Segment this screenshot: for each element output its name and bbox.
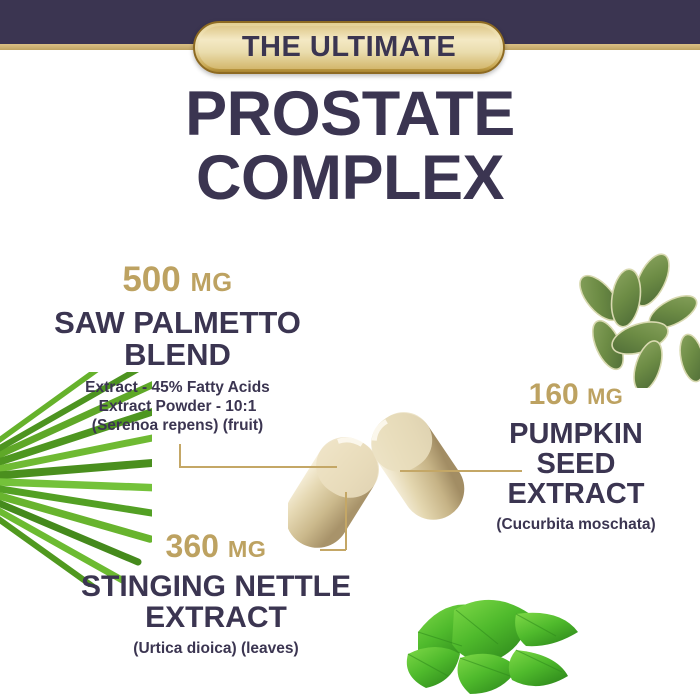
- ultimate-badge: THE ULTIMATE: [193, 21, 505, 74]
- pumpkin-seed-dose-value: 160: [529, 378, 579, 411]
- saw-palmetto-detail-2: Extract Powder - 10:1: [10, 398, 345, 417]
- pumpkin-seed-name: PUMPKIN SEED EXTRACT: [452, 419, 700, 509]
- pumpkin-seed-detail-1: (Cucurbita moschata): [452, 516, 700, 535]
- title-line-2: COMPLEX: [0, 146, 700, 210]
- ingredient-stinging-nettle: 360 MG STINGING NETTLE EXTRACT (Urtica d…: [30, 530, 402, 659]
- stinging-nettle-dose-value: 360: [166, 528, 219, 564]
- title-line-1: PROSTATE: [185, 79, 515, 149]
- ingredient-pumpkin-seed: 160 MG PUMPKIN SEED EXTRACT (Cucurbita m…: [452, 380, 700, 535]
- pumpkin-seed-details: (Cucurbita moschata): [452, 516, 700, 535]
- saw-palmetto-name-line-1: SAW PALMETTO: [10, 307, 345, 339]
- saw-palmetto-details: Extract - 45% Fatty Acids Extract Powder…: [10, 379, 345, 436]
- stinging-nettle-dose: 360 MG: [30, 530, 402, 562]
- connector-saw-horizontal: [179, 466, 337, 468]
- saw-palmetto-name: SAW PALMETTO BLEND: [10, 307, 345, 371]
- nettle-leaves-icon: [398, 592, 658, 700]
- ultimate-badge-label: THE ULTIMATE: [242, 33, 456, 62]
- pumpkin-seed-name-line-3: EXTRACT: [452, 479, 700, 509]
- stinging-nettle-name-line-2: EXTRACT: [30, 602, 402, 633]
- stinging-nettle-name: STINGING NETTLE EXTRACT: [30, 571, 402, 633]
- saw-palmetto-dose-unit: MG: [190, 269, 232, 297]
- saw-palmetto-detail-1: Extract - 45% Fatty Acids: [10, 379, 345, 398]
- page-title: PROSTATE COMPLEX: [0, 82, 700, 211]
- saw-palmetto-dose-value: 500: [122, 260, 180, 299]
- stinging-nettle-dose-unit: MG: [228, 536, 267, 562]
- ultimate-badge-inner: THE ULTIMATE: [198, 26, 500, 69]
- connector-saw-vertical: [179, 444, 181, 468]
- saw-palmetto-name-line-2: BLEND: [10, 339, 345, 371]
- pumpkin-seeds-icon: [556, 246, 700, 388]
- pumpkin-seed-dose: 160 MG: [452, 380, 700, 410]
- stinging-nettle-details: (Urtica dioica) (leaves): [30, 640, 402, 659]
- ingredient-saw-palmetto: 500 MG SAW PALMETTO BLEND Extract - 45% …: [10, 262, 345, 436]
- stinging-nettle-detail-1: (Urtica dioica) (leaves): [30, 640, 402, 659]
- pumpkin-seed-dose-unit: MG: [587, 384, 623, 409]
- pumpkin-seed-name-line-1: PUMPKIN: [452, 419, 700, 449]
- stinging-nettle-name-line-1: STINGING NETTLE: [30, 571, 402, 602]
- product-poster: THE ULTIMATE PROSTATE COMPLEX: [0, 0, 700, 700]
- pumpkin-seed-name-line-2: SEED: [452, 449, 700, 479]
- saw-palmetto-dose: 500 MG: [10, 262, 345, 297]
- saw-palmetto-detail-3: (Serenoa repens) (fruit): [10, 417, 345, 436]
